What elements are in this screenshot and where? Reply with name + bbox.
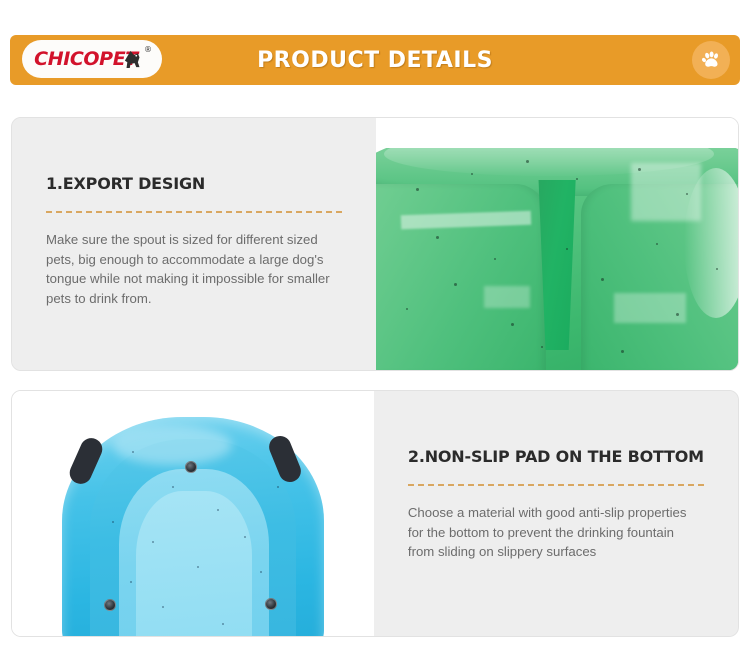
paw-print-icon: [692, 41, 730, 79]
section-title: 1.EXPORT DESIGN: [46, 174, 342, 193]
screw-top: [185, 461, 197, 473]
feature-card-text-panel: 1.EXPORT DESIGN Make sure the spout is s…: [12, 118, 376, 370]
section-body-text: Choose a material with good anti-slip pr…: [408, 503, 704, 562]
feature-card-non-slip-pad: 2.NON-SLIP PAD ON THE BOTTOM Choose a ma…: [11, 390, 739, 637]
feature-card-text-panel: 2.NON-SLIP PAD ON THE BOTTOM Choose a ma…: [374, 391, 738, 636]
section-divider: [46, 211, 342, 213]
section-divider: [408, 484, 704, 486]
screw-bottom-left: [104, 599, 116, 611]
screw-bottom-right: [265, 598, 277, 610]
section-body-text: Make sure the spout is sized for differe…: [46, 230, 342, 308]
feature-card-export-design: 1.EXPORT DESIGN Make sure the spout is s…: [11, 117, 739, 371]
page-header-bar: CHICOPET ® PRODUCT DETAILS: [10, 35, 740, 85]
product-details-page: CHICOPET ® PRODUCT DETAILS 1.EXPORT DESI…: [0, 0, 750, 665]
section-title: 2.NON-SLIP PAD ON THE BOTTOM: [408, 447, 704, 466]
product-photo-green-spout: [376, 118, 738, 370]
page-title: PRODUCT DETAILS: [10, 48, 740, 73]
product-photo-blue-base: [12, 391, 374, 636]
